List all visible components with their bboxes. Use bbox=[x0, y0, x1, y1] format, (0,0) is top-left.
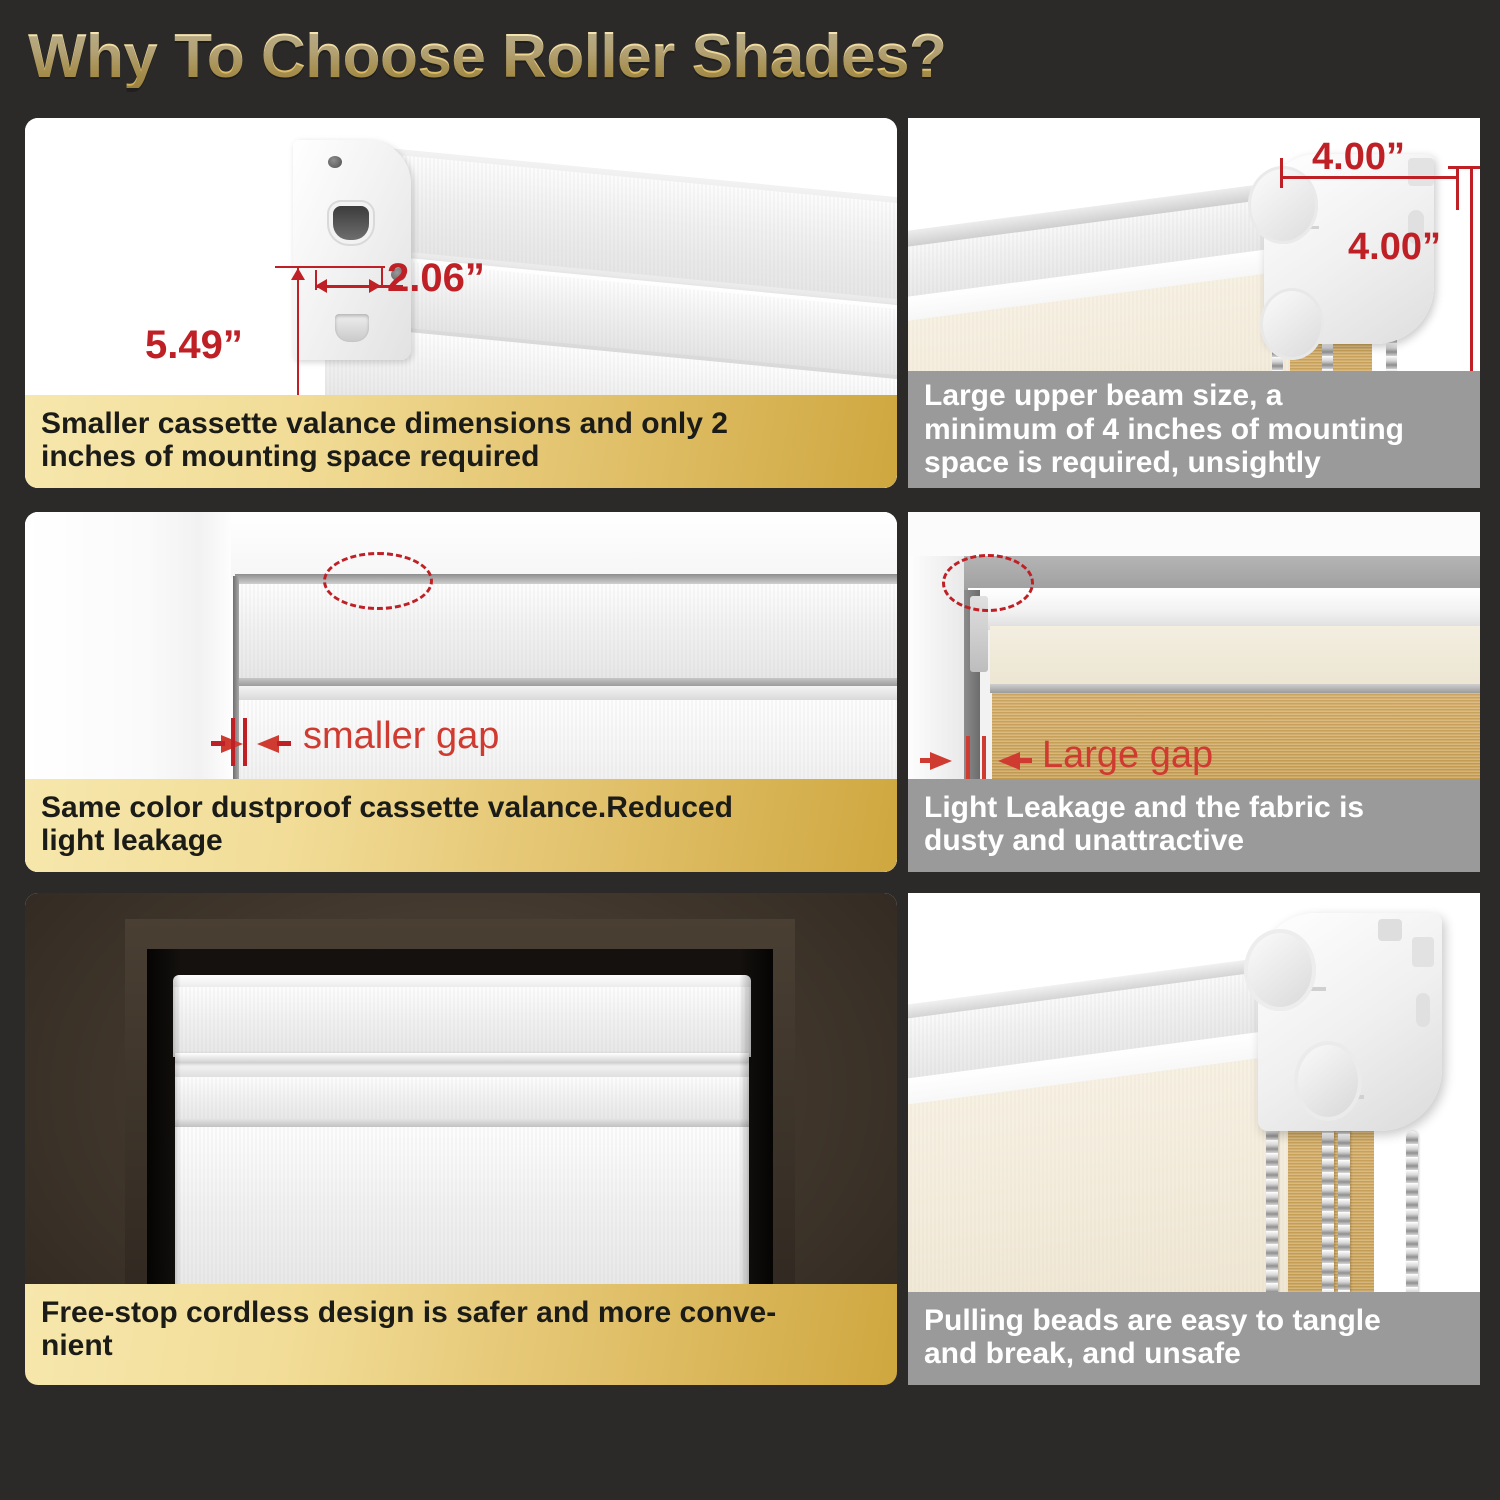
caption-line: Light Leakage and the fabric is bbox=[924, 791, 1464, 825]
panel-pro-cordless-design: Free-stop cordless design is safer and m… bbox=[25, 893, 897, 1385]
caption-con-beam-size: Large upper beam size, a minimum of 4 in… bbox=[908, 371, 1480, 488]
dimension-label-beam-height: 4.00” bbox=[1348, 226, 1441, 269]
caption-line: Same color dustproof cassette valance.Re… bbox=[41, 791, 881, 825]
caption-line: inches of mounting space required bbox=[41, 440, 881, 474]
panel-pro-dustproof-valance: smaller gap Same color dustproof cassett… bbox=[25, 512, 897, 872]
caption-line: dusty and unattractive bbox=[924, 824, 1464, 858]
caption-line: space is required, unsightly bbox=[924, 446, 1464, 480]
panel-con-light-leakage: Large gap Light Leakage and the fabric i… bbox=[908, 512, 1480, 872]
gap-callout-label: smaller gap bbox=[303, 715, 499, 758]
comparison-grid: 2.06” 5.49” Smaller cassette valance dim… bbox=[0, 0, 1500, 1500]
gap-highlight-ellipse bbox=[942, 554, 1034, 612]
caption-line: Large upper beam size, a bbox=[924, 379, 1464, 413]
caption-line: nient bbox=[41, 1329, 881, 1363]
caption-line: and break, and unsafe bbox=[924, 1337, 1464, 1371]
caption-pro-cassette-size: Smaller cassette valance dimensions and … bbox=[25, 395, 897, 488]
gap-highlight-ellipse bbox=[323, 552, 433, 610]
caption-line: Free-stop cordless design is safer and m… bbox=[41, 1296, 881, 1330]
dimension-label-height: 5.49” bbox=[145, 323, 243, 368]
caption-pro-cordless-design: Free-stop cordless design is safer and m… bbox=[25, 1284, 897, 1385]
caption-line: Smaller cassette valance dimensions and … bbox=[41, 407, 881, 441]
caption-line: Pulling beads are easy to tangle bbox=[924, 1304, 1464, 1338]
dimension-label-width: 2.06” bbox=[387, 256, 485, 301]
caption-line: light leakage bbox=[41, 824, 881, 858]
dimension-label-beam-width: 4.00” bbox=[1312, 136, 1405, 179]
caption-con-pulling-beads: Pulling beads are easy to tangle and bre… bbox=[908, 1292, 1480, 1385]
caption-pro-dustproof-valance: Same color dustproof cassette valance.Re… bbox=[25, 779, 897, 872]
panel-pro-cassette-size: 2.06” 5.49” Smaller cassette valance dim… bbox=[25, 118, 897, 488]
caption-con-light-leakage: Light Leakage and the fabric is dusty an… bbox=[908, 779, 1480, 872]
caption-line: minimum of 4 inches of mounting bbox=[924, 413, 1464, 447]
gap-callout-label: Large gap bbox=[1042, 734, 1213, 777]
panel-con-beam-size: 4.00” 4.00” Large upper beam size, a min… bbox=[908, 118, 1480, 488]
panel-con-pulling-beads: Pulling beads are easy to tangle and bre… bbox=[908, 893, 1480, 1385]
